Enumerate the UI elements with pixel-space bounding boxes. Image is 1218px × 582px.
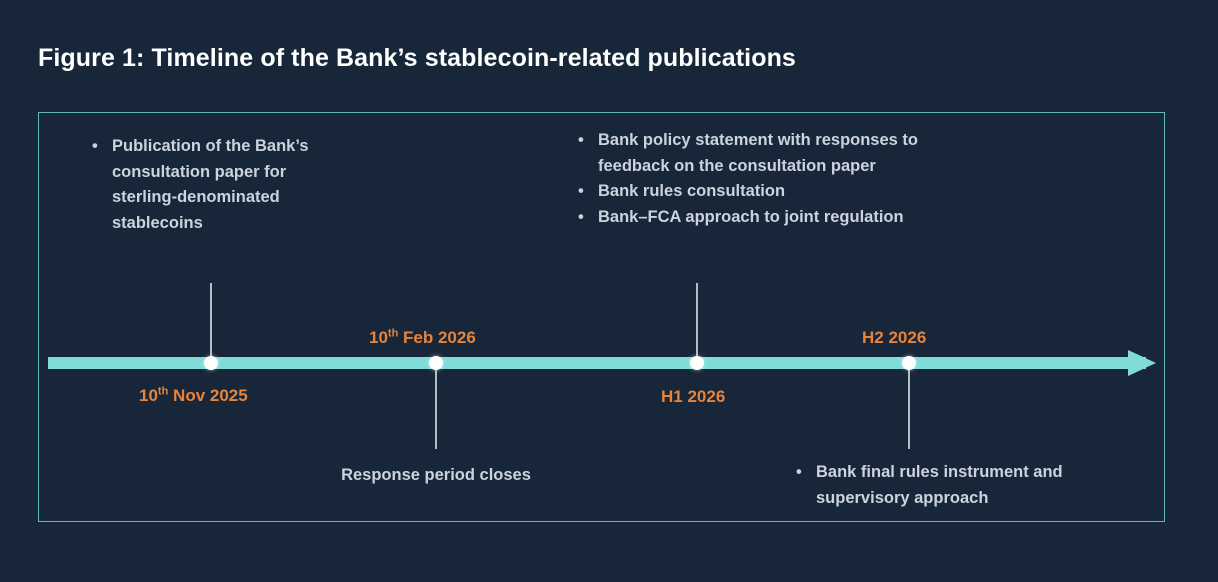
bullet-icon: • bbox=[796, 460, 816, 486]
date-label-response-period-closes: 10th Feb 2026 bbox=[369, 328, 476, 348]
list-item-label: Bank final rules instrument and supervis… bbox=[816, 460, 1116, 511]
list-item-label: Bank rules consultation bbox=[598, 179, 918, 205]
date-rest: Nov 2025 bbox=[168, 386, 247, 405]
date-main: H1 2026 bbox=[661, 387, 725, 406]
event-text-final-rules-instrument: • Bank final rules instrument and superv… bbox=[796, 460, 1116, 511]
page-title: Figure 1: Timeline of the Bank’s stablec… bbox=[38, 44, 796, 73]
date-label-policy-statement: H1 2026 bbox=[661, 387, 725, 407]
date-label-consultation-paper: 10th Nov 2025 bbox=[139, 386, 248, 406]
connector-line-policy-statement bbox=[696, 283, 698, 363]
bullet-icon: • bbox=[578, 205, 598, 231]
date-main: 10 bbox=[369, 328, 388, 347]
bullet-icon: • bbox=[92, 134, 112, 160]
event-text-policy-statement: • Bank policy statement with responses t… bbox=[578, 128, 918, 230]
list-item: • Bank rules consultation bbox=[578, 179, 918, 205]
date-rest: Feb 2026 bbox=[398, 328, 476, 347]
timeline-arrow-icon bbox=[1128, 350, 1156, 376]
list-item-label: Publication of the Bank’s consultation p… bbox=[112, 134, 332, 236]
list-item: • Bank policy statement with responses t… bbox=[578, 128, 918, 179]
bullet-icon: • bbox=[578, 179, 598, 205]
timeline-marker-response-period-closes[interactable] bbox=[429, 356, 443, 370]
date-main: 10 bbox=[139, 386, 158, 405]
list-item: • Bank–FCA approach to joint regulation bbox=[578, 205, 918, 231]
connector-line-consultation-paper bbox=[210, 283, 212, 363]
timeline-marker-final-rules-instrument[interactable] bbox=[902, 356, 916, 370]
list-item-label: Bank–FCA approach to joint regulation bbox=[598, 205, 918, 231]
list-item: • Publication of the Bank’s consultation… bbox=[92, 134, 332, 236]
event-text-response-period-closes: Response period closes bbox=[336, 463, 536, 489]
date-superscript: th bbox=[388, 327, 398, 339]
timeline-marker-consultation-paper[interactable] bbox=[204, 356, 218, 370]
connector-line-response-period-closes bbox=[435, 363, 437, 449]
date-label-final-rules-instrument: H2 2026 bbox=[862, 328, 926, 348]
timeline-marker-policy-statement[interactable] bbox=[690, 356, 704, 370]
event-text-consultation-paper: • Publication of the Bank’s consultation… bbox=[92, 134, 332, 236]
connector-line-final-rules-instrument bbox=[908, 363, 910, 449]
bullet-icon: • bbox=[578, 128, 598, 154]
list-item: • Bank final rules instrument and superv… bbox=[796, 460, 1116, 511]
date-main: H2 2026 bbox=[862, 328, 926, 347]
date-superscript: th bbox=[158, 385, 168, 397]
list-item-label: Response period closes bbox=[341, 466, 531, 484]
list-item-label: Bank policy statement with responses to … bbox=[598, 128, 918, 179]
